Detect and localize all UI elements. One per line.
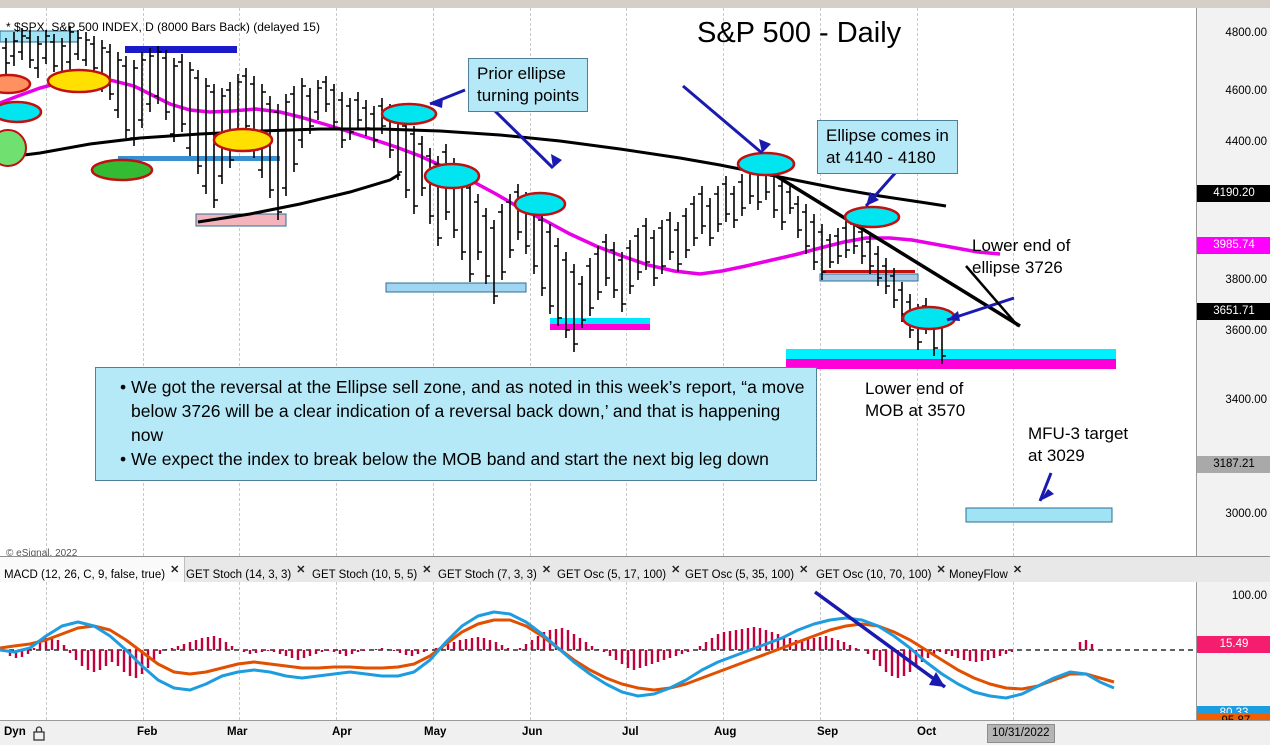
tab-moneyflow[interactable]: MoneyFlow✕ <box>945 557 1026 583</box>
turning-point-ellipse <box>738 153 794 175</box>
price-tick: 3400.00 <box>1225 394 1267 406</box>
month-label: Feb <box>137 726 157 738</box>
month-label: Jun <box>522 726 542 738</box>
gridline-vertical <box>723 582 724 720</box>
tab-label: GET Osc (5, 35, 100) <box>685 569 794 581</box>
gridline-vertical <box>336 582 337 720</box>
price-badge-ma: 3985.74 <box>1197 237 1270 254</box>
chart-application: * $SPX, S&P 500 INDEX, D (8000 Bars Back… <box>0 0 1270 744</box>
gridline-vertical <box>917 582 918 720</box>
close-icon[interactable]: ✕ <box>296 564 305 576</box>
gridline-vertical <box>239 582 240 720</box>
macd-tick: 100.00 <box>1232 590 1267 602</box>
turning-point-ellipse <box>845 207 899 227</box>
indicator-tab-bar[interactable]: MACD (12, 26, C, 9, false, true)✕ GET St… <box>0 556 1270 584</box>
price-band <box>550 324 650 330</box>
label-mfu-target: MFU-3 target at 3029 <box>1028 423 1128 467</box>
turning-point-ellipse <box>214 129 272 151</box>
trendline-curve <box>0 129 946 206</box>
tab-label: GET Osc (10, 70, 100) <box>816 569 931 581</box>
price-tick: 3600.00 <box>1225 325 1267 337</box>
close-icon[interactable]: ✕ <box>671 564 680 576</box>
gridline-vertical <box>1013 8 1014 556</box>
price-tick: 4600.00 <box>1225 85 1267 97</box>
tab-macd[interactable]: MACD (12, 26, C, 9, false, true)✕ <box>0 557 185 583</box>
gridline-vertical <box>46 582 47 720</box>
gridline-vertical <box>820 582 821 720</box>
tab-label: GET Osc (5, 17, 100) <box>557 569 666 581</box>
tab-label: GET Stoch (10, 5, 5) <box>312 569 417 581</box>
dyn-label: Dyn <box>4 726 26 738</box>
label-lower-mob: Lower end of MOB at 3570 <box>865 378 965 422</box>
price-chart-pane[interactable]: * $SPX, S&P 500 INDEX, D (8000 Bars Back… <box>0 8 1196 556</box>
month-label: Sep <box>817 726 838 738</box>
price-band <box>823 270 915 273</box>
mfu-target-box <box>966 508 1112 522</box>
close-icon[interactable]: ✕ <box>542 564 551 576</box>
gridline-vertical <box>433 582 434 720</box>
mob-band-magenta <box>786 359 1116 369</box>
month-label: Jul <box>622 726 639 738</box>
month-label: Oct <box>917 726 936 738</box>
macd-badge-value: 15.49 <box>1197 636 1270 653</box>
tab-get-osc-10-70-100[interactable]: GET Osc (10, 70, 100)✕ <box>812 557 950 583</box>
lock-icon[interactable] <box>32 725 46 741</box>
macd-signal-line <box>0 620 1114 690</box>
price-band <box>125 46 237 53</box>
price-tick: 4800.00 <box>1225 27 1267 39</box>
macd-axis[interactable]: 100.00 0.00 15.49 80.33 -95.87 <box>1196 582 1270 720</box>
price-tick: 3800.00 <box>1225 274 1267 286</box>
copyright-label: © eSignal, 2022 <box>6 548 77 556</box>
price-band <box>196 214 286 226</box>
tab-get-osc-5-17-100[interactable]: GET Osc (5, 17, 100)✕ <box>553 557 684 583</box>
turning-point-ellipse <box>0 130 26 166</box>
gridline-vertical <box>820 8 821 556</box>
turning-point-ellipse <box>48 70 110 92</box>
turning-point-ellipse <box>0 102 41 122</box>
tab-label: MoneyFlow <box>949 569 1008 581</box>
gridline-vertical <box>46 8 47 556</box>
turning-point-ellipse <box>0 75 30 93</box>
tab-get-osc-5-35-100[interactable]: GET Osc (5, 35, 100)✕ <box>681 557 812 583</box>
trendline-rising <box>198 174 400 222</box>
month-label: May <box>424 726 446 738</box>
gridline-vertical <box>917 8 918 556</box>
tab-label: MACD (12, 26, C, 9, false, true) <box>4 569 165 581</box>
callout-ellipse-zone: Ellipse comes in at 4140 - 4180 <box>817 120 958 174</box>
note-bullet: We got the reversal at the Ellipse sell … <box>120 375 806 447</box>
close-icon[interactable]: ✕ <box>799 564 808 576</box>
price-badge-level: 3187.21 <box>1197 456 1270 473</box>
macd-trend-arrow <box>815 592 945 687</box>
turning-point-ellipse <box>382 104 436 124</box>
price-tick: 4400.00 <box>1225 136 1267 148</box>
price-tick: 3000.00 <box>1225 508 1267 520</box>
tab-get-stoch-7-3-3[interactable]: GET Stoch (7, 3, 3)✕ <box>434 557 555 583</box>
price-badge-last: 4190.20 <box>1197 185 1270 202</box>
price-band <box>550 318 650 324</box>
close-icon[interactable]: ✕ <box>170 564 179 576</box>
macd-plot <box>0 582 1196 720</box>
price-axis[interactable]: 4800.00 4600.00 4400.00 3800.00 3600.00 … <box>1196 8 1270 556</box>
gridline-vertical <box>626 582 627 720</box>
mob-band-cyan <box>786 349 1116 359</box>
turning-point-ellipse <box>515 193 565 215</box>
tab-get-stoch-14-3-3[interactable]: GET Stoch (14, 3, 3)✕ <box>182 557 309 583</box>
month-label: Aug <box>714 726 736 738</box>
price-band <box>386 283 526 292</box>
close-icon[interactable]: ✕ <box>422 564 431 576</box>
tab-label: GET Stoch (14, 3, 3) <box>186 569 291 581</box>
label-lower-ellipse: Lower end of ellipse 3726 <box>972 235 1070 279</box>
close-icon[interactable]: ✕ <box>1013 564 1022 576</box>
macd-pane[interactable] <box>0 582 1196 720</box>
macd-fast-line <box>0 612 1114 698</box>
gridline-vertical <box>1013 582 1014 720</box>
callout-prior-ellipse: Prior ellipse turning points <box>468 58 588 112</box>
page-title: S&P 500 - Daily <box>697 17 901 50</box>
time-axis-bar[interactable]: Dyn Feb Mar Apr May Jun Jul Aug Sep Oct … <box>0 720 1270 745</box>
turning-point-ellipse <box>903 307 955 329</box>
date-readout[interactable]: 10/31/2022 <box>987 724 1055 743</box>
month-label: Mar <box>227 726 247 738</box>
gridline-vertical <box>143 582 144 720</box>
note-bullet: We expect the index to break below the M… <box>120 447 806 471</box>
tab-get-stoch-10-5-5[interactable]: GET Stoch (10, 5, 5)✕ <box>308 557 435 583</box>
price-badge-close: 3651.71 <box>1197 303 1270 320</box>
gridline-vertical <box>530 582 531 720</box>
month-label: Apr <box>332 726 352 738</box>
price-band <box>820 274 918 281</box>
macd-histogram <box>4 627 1092 678</box>
analysis-note-box: We got the reversal at the Ellipse sell … <box>95 367 817 481</box>
tab-label: GET Stoch (7, 3, 3) <box>438 569 537 581</box>
symbol-label: * $SPX, S&P 500 INDEX, D (8000 Bars Back… <box>6 20 320 34</box>
